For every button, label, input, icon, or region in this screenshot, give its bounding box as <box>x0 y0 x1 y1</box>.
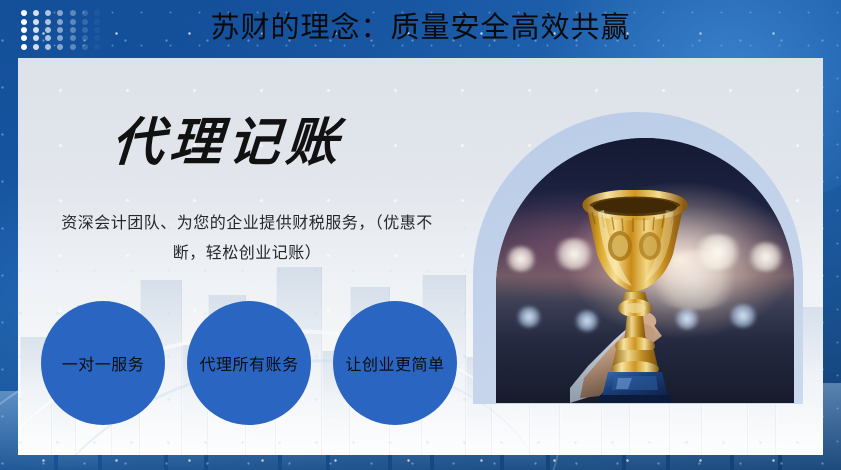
feature-circle-2-label: 代理所有账务 <box>199 351 298 375</box>
feature-circle-1-label: 一对一服务 <box>62 351 145 375</box>
trophy-photo <box>496 138 794 403</box>
body-text: 资深会计团队、为您的企业提供财税服务，（优惠不断，轻松创业记账） <box>52 209 442 269</box>
content-panel: 代理记账 资深会计团队、为您的企业提供财税服务，（优惠不断，轻松创业记账） 一对… <box>18 58 823 455</box>
feature-circle-1[interactable]: 一对一服务 <box>41 301 165 425</box>
feature-circle-3-label: 让创业更简单 <box>345 351 444 375</box>
trophy-icon <box>570 190 700 403</box>
headline: 代理记账 <box>110 112 346 174</box>
feature-circle-2[interactable]: 代理所有账务 <box>187 301 311 425</box>
presentation-slide: 苏财的理念：质量安全高效共赢 <box>0 0 841 470</box>
page-title: 苏财的理念：质量安全高效共赢 <box>0 8 841 48</box>
feature-circle-3[interactable]: 让创业更简单 <box>333 301 457 425</box>
